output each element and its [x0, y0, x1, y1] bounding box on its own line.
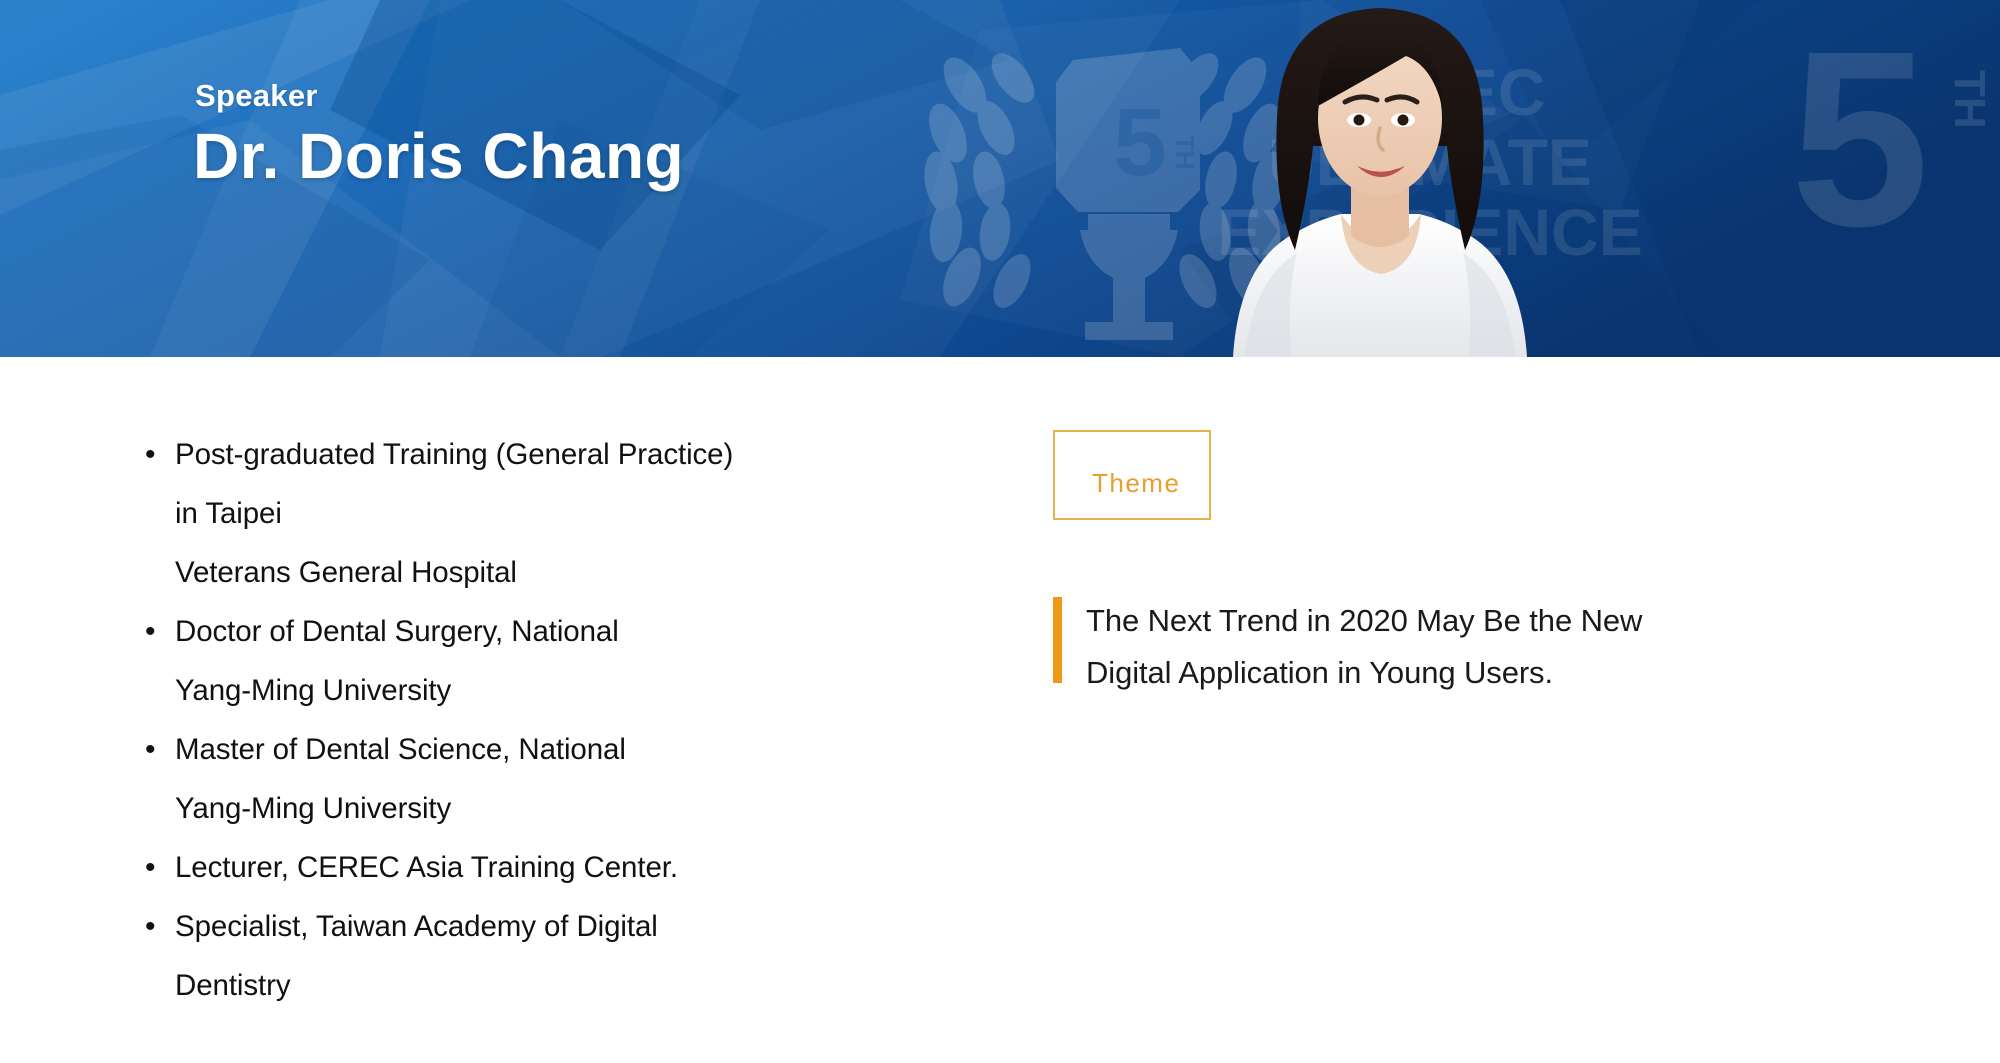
bio-text-line: Post-graduated Training (General Practic… — [175, 425, 905, 484]
svg-text:TH: TH — [1170, 135, 1200, 170]
theme-title-line: Digital Application in Young Users. — [1086, 647, 1886, 699]
list-item-text: Master of Dental Science, National Yang-… — [175, 720, 905, 838]
list-item: • Specialist, Taiwan Academy of Digital … — [145, 897, 905, 1015]
bullet-icon: • — [145, 602, 175, 661]
list-item-text: Post-graduated Training (General Practic… — [175, 425, 905, 602]
bio-text-line: Lecturer, CEREC Asia Training Center. — [175, 838, 905, 897]
list-item-text: Specialist, Taiwan Academy of Digital De… — [175, 897, 905, 1015]
speaker-portrait-photo — [1215, 0, 1545, 357]
speaker-slide: 5 TH CEREC ULTIMATE EXPERIENCE 5 TH — [0, 0, 2000, 1063]
list-item: • Master of Dental Science, National Yan… — [145, 720, 905, 838]
svg-text:5: 5 — [1113, 89, 1166, 196]
header-banner: 5 TH CEREC ULTIMATE EXPERIENCE 5 TH — [0, 0, 2000, 357]
bio-text-line: Yang-Ming University — [175, 779, 905, 838]
bullet-icon: • — [145, 425, 175, 484]
bio-text-line: Doctor of Dental Surgery, National — [175, 602, 905, 661]
bio-text-line: Yang-Ming University — [175, 661, 905, 720]
bio-text-line: Specialist, Taiwan Academy of Digital — [175, 897, 905, 956]
bullet-icon: • — [145, 838, 175, 897]
speaker-bio-list: • Post-graduated Training (General Pract… — [145, 425, 905, 1015]
theme-title-line: The Next Trend in 2020 May Be the New — [1086, 595, 1886, 647]
theme-title: The Next Trend in 2020 May Be the New Di… — [1086, 595, 1886, 699]
speaker-name: Dr. Doris Chang — [193, 119, 684, 195]
bio-text-line: Dentistry — [175, 956, 905, 1015]
bio-text-line: in Taipei — [175, 484, 905, 543]
list-item: • Doctor of Dental Surgery, National Yan… — [145, 602, 905, 720]
list-item-text: Lecturer, CEREC Asia Training Center. — [175, 838, 905, 897]
list-item-text: Doctor of Dental Surgery, National Yang-… — [175, 602, 905, 720]
theme-accent-bar — [1053, 597, 1062, 683]
portrait-figure — [1215, 0, 1545, 357]
bio-text-line: Veterans General Hospital — [175, 543, 905, 602]
bullet-icon: • — [145, 720, 175, 779]
speaker-label: Speaker — [195, 79, 318, 113]
bullet-icon: • — [145, 897, 175, 956]
svg-text:5: 5 — [1790, 0, 1929, 278]
bio-text-line: Master of Dental Science, National — [175, 720, 905, 779]
list-item: • Post-graduated Training (General Pract… — [145, 425, 905, 602]
svg-text:TH: TH — [1945, 70, 1994, 129]
theme-label: Theme — [1078, 468, 1194, 498]
list-item: • Lecturer, CEREC Asia Training Center. — [145, 838, 905, 897]
